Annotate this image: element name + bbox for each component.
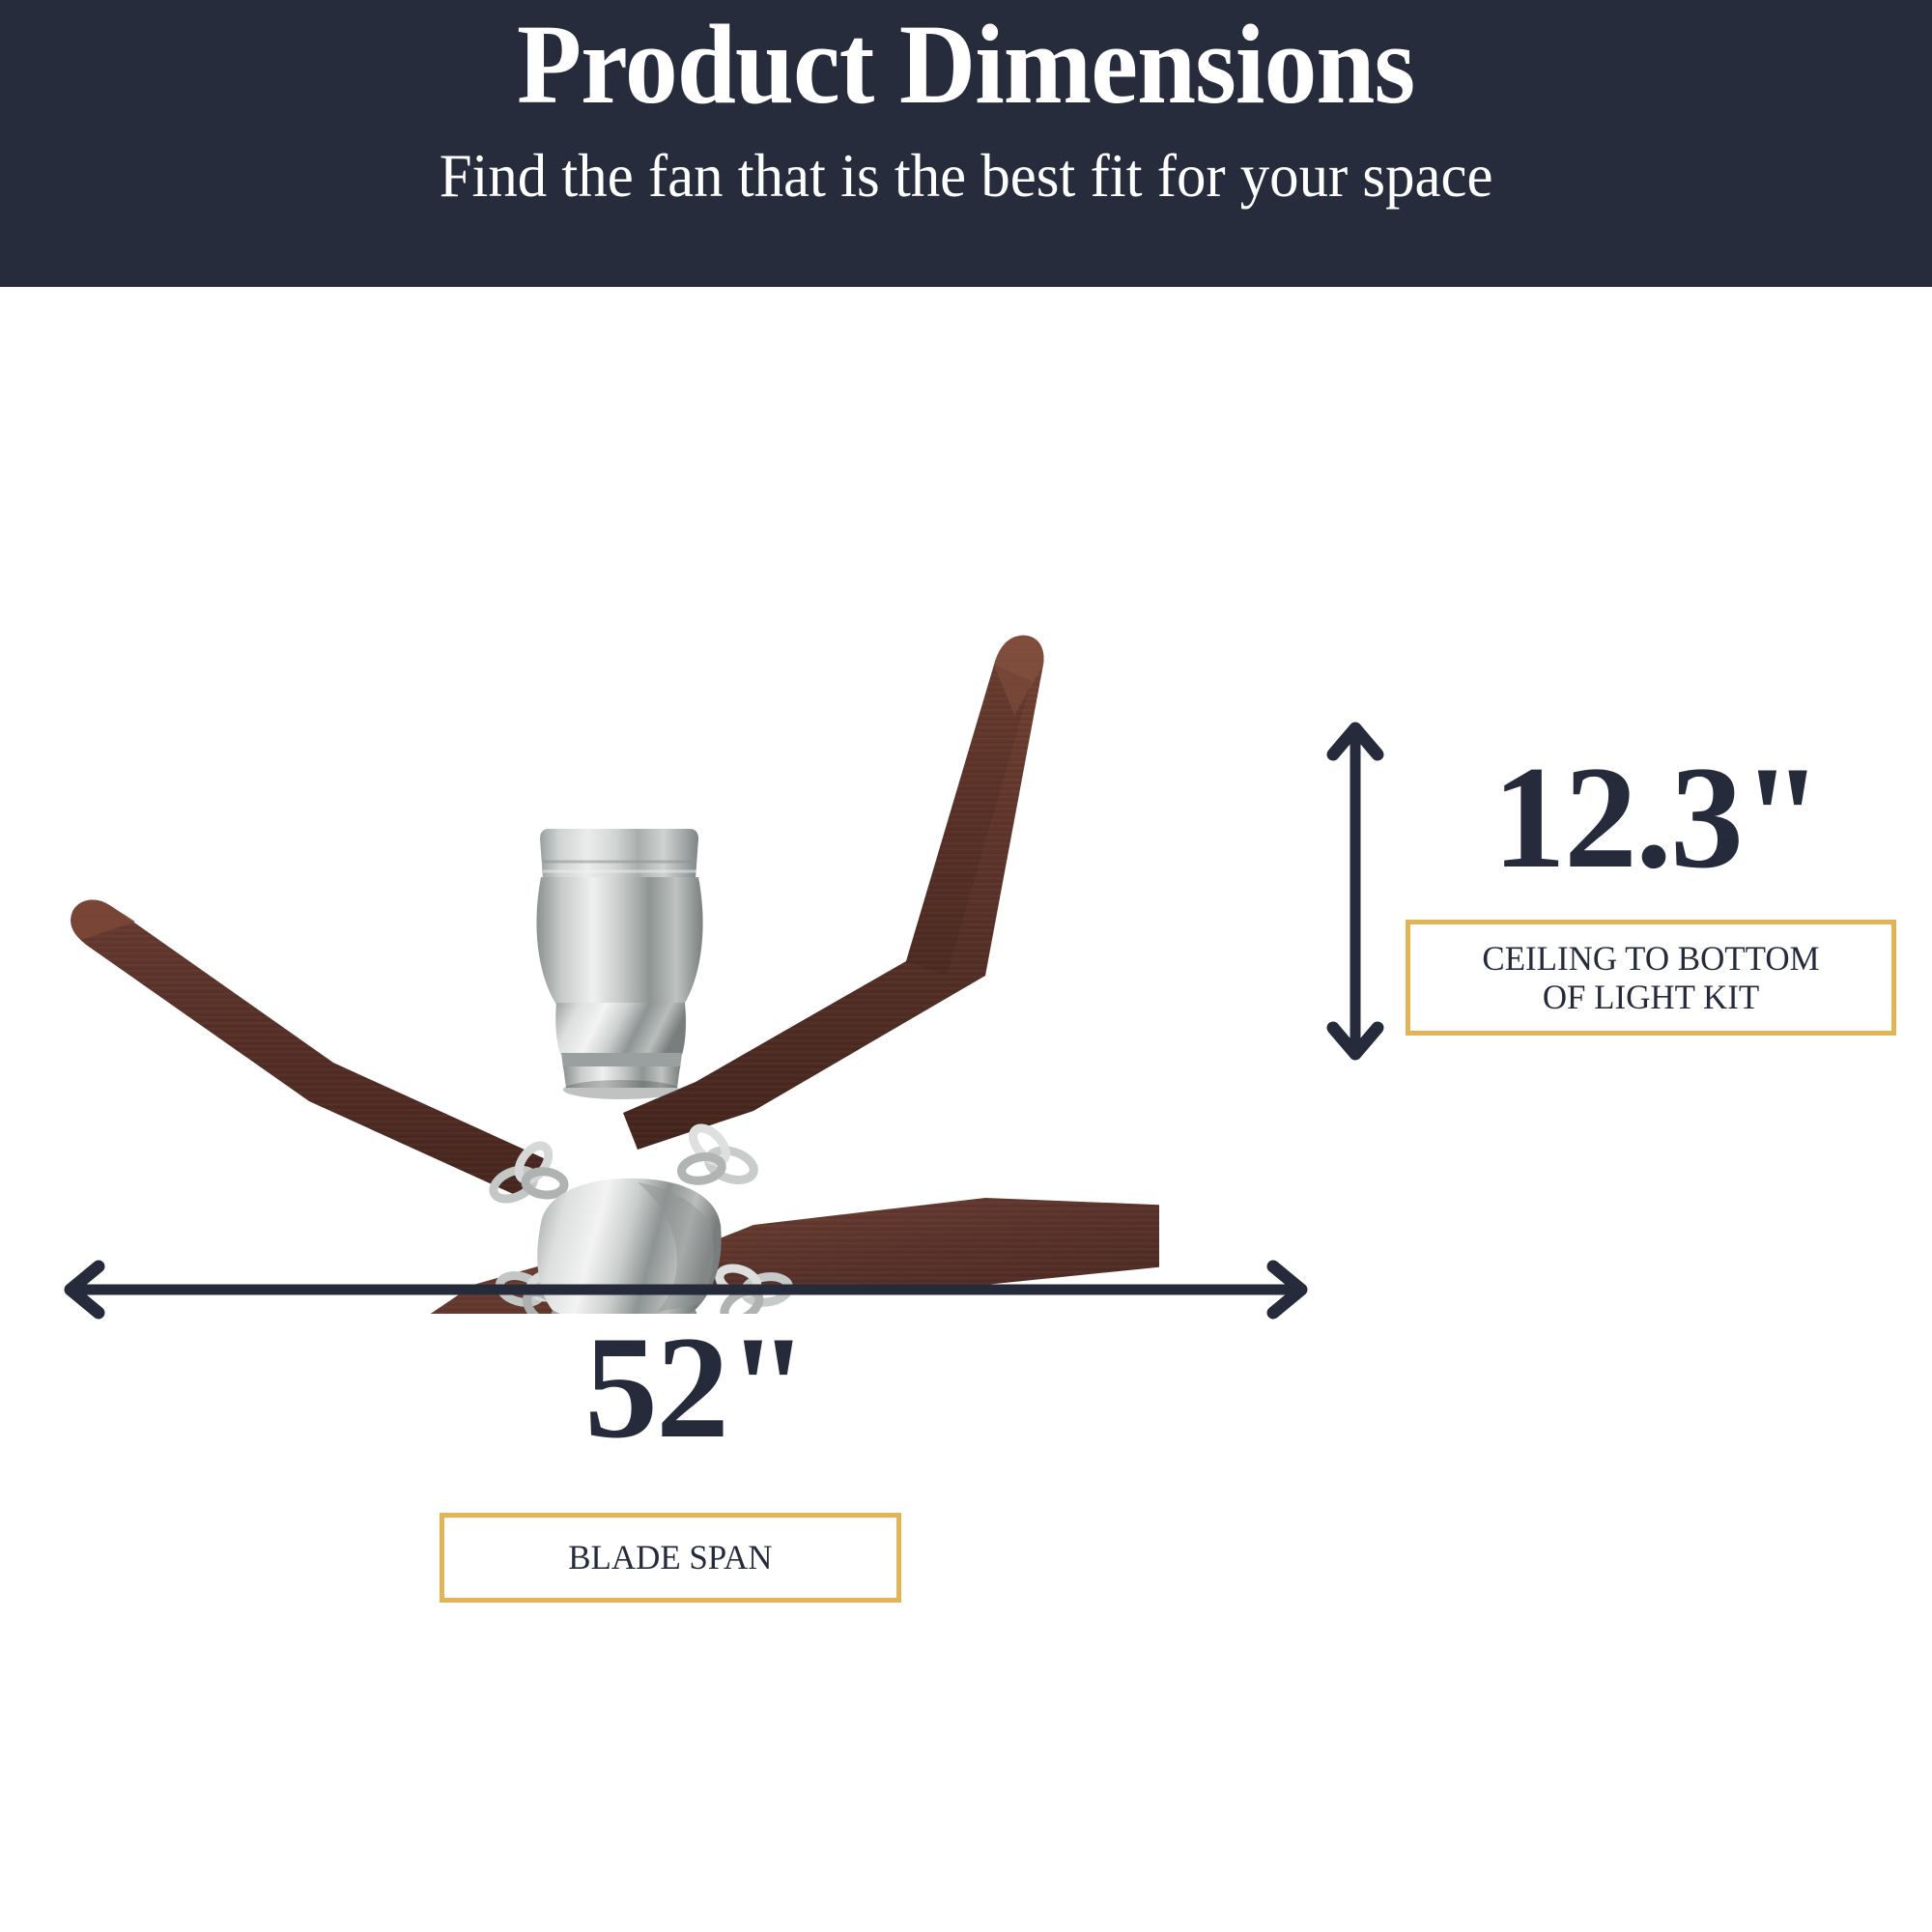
height-callout: 12.3" CEILING TO BOTTOM OF LIGHT KIT xyxy=(1406,744,1908,1036)
product-dimensions-infographic: Product Dimensions Find the fan that is … xyxy=(0,0,1932,1932)
ceiling-fan-product-image xyxy=(19,522,1159,1314)
height-label-line2: OF LIGHT KIT xyxy=(1482,978,1819,1016)
height-label-box: CEILING TO BOTTOM OF LIGHT KIT xyxy=(1406,920,1896,1036)
header-banner: Product Dimensions Find the fan that is … xyxy=(0,0,1932,287)
blade-span-label-text: BLADE SPAN xyxy=(568,1538,772,1577)
blade-span-value: 52" xyxy=(348,1314,908,1461)
height-label-line1: CEILING TO BOTTOM xyxy=(1482,939,1819,978)
fan-canopy xyxy=(536,829,702,1099)
blade-span-label-box: BLADE SPAN xyxy=(440,1513,901,1603)
page-subtitle: Find the fan that is the best fit for yo… xyxy=(440,145,1493,207)
fan-blade xyxy=(71,899,546,1198)
height-label-text: CEILING TO BOTTOM OF LIGHT KIT xyxy=(1482,939,1819,1017)
blade-span-callout: 52" BLADE SPAN xyxy=(348,1314,908,1603)
height-dimension-arrow xyxy=(1321,710,1389,1072)
height-value: 12.3" xyxy=(1406,744,1908,891)
page-title: Product Dimensions xyxy=(517,8,1414,122)
